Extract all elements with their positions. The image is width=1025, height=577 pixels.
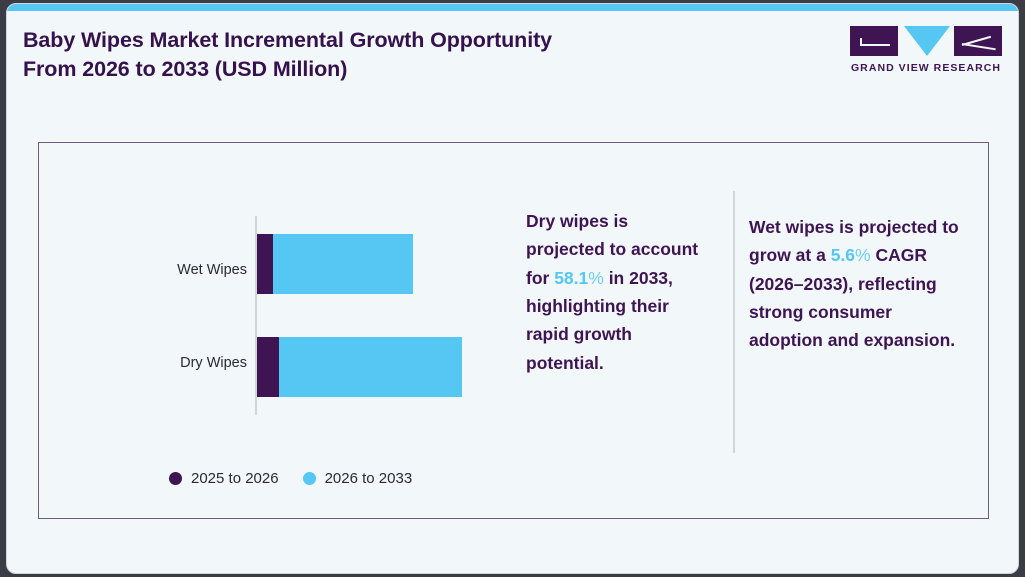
bar-segment-wet-2025-2026 — [257, 234, 273, 294]
legend-swatch-icon — [303, 472, 316, 485]
bar-segment-wet-2026-2033 — [273, 234, 413, 294]
logo-marks — [850, 26, 1002, 56]
callout-value: 58.1 — [554, 268, 588, 288]
legend-item-2026-2033: 2026 to 2033 — [303, 471, 413, 486]
legend-swatch-icon — [169, 472, 182, 485]
brand-name: GRAND VIEW RESEARCH — [850, 62, 1002, 74]
callout-unit: % — [855, 245, 871, 265]
top-accent-bar — [7, 4, 1018, 11]
chart-legend: 2025 to 2026 2026 to 2033 — [169, 471, 412, 486]
gvr-logo-triangle-icon — [904, 26, 950, 56]
legend-label: 2025 to 2026 — [191, 471, 279, 486]
gvr-logo-left-tick-icon — [860, 38, 862, 45]
callout-value: 5.6 — [831, 245, 855, 265]
category-label-dry-wipes: Dry Wipes — [127, 356, 247, 371]
page-title-line-1: Baby Wipes Market Incremental Growth Opp… — [23, 26, 723, 55]
page-title-line-2: From 2026 to 2033 (USD Million) — [23, 55, 723, 84]
callout-divider — [733, 191, 735, 453]
page-title: Baby Wipes Market Incremental Growth Opp… — [23, 26, 723, 84]
bar-segment-dry-2025-2026 — [257, 337, 279, 397]
callout-dry-wipes-share: Dry wipes is projected to account for 58… — [526, 207, 711, 377]
gvr-logo-left-block-icon — [850, 26, 898, 56]
callout-unit: % — [588, 268, 604, 288]
content-card: Wet Wipes Dry Wipes 2025 to 2026 2026 to… — [38, 142, 989, 519]
callout-wet-wipes-cagr: Wet wipes is projected to grow at a 5.6%… — [749, 213, 959, 355]
incremental-growth-chart: Wet Wipes Dry Wipes — [39, 143, 469, 443]
report-canvas: Baby Wipes Market Incremental Growth Opp… — [6, 3, 1019, 574]
legend-label: 2026 to 2033 — [325, 471, 413, 486]
gvr-logo-left-notch-icon — [860, 44, 890, 46]
brand-logo: GRAND VIEW RESEARCH — [850, 26, 1002, 74]
category-label-wet-wipes: Wet Wipes — [127, 263, 247, 278]
bar-segment-dry-2026-2033 — [279, 337, 462, 397]
legend-item-2025-2026: 2025 to 2026 — [169, 471, 279, 486]
